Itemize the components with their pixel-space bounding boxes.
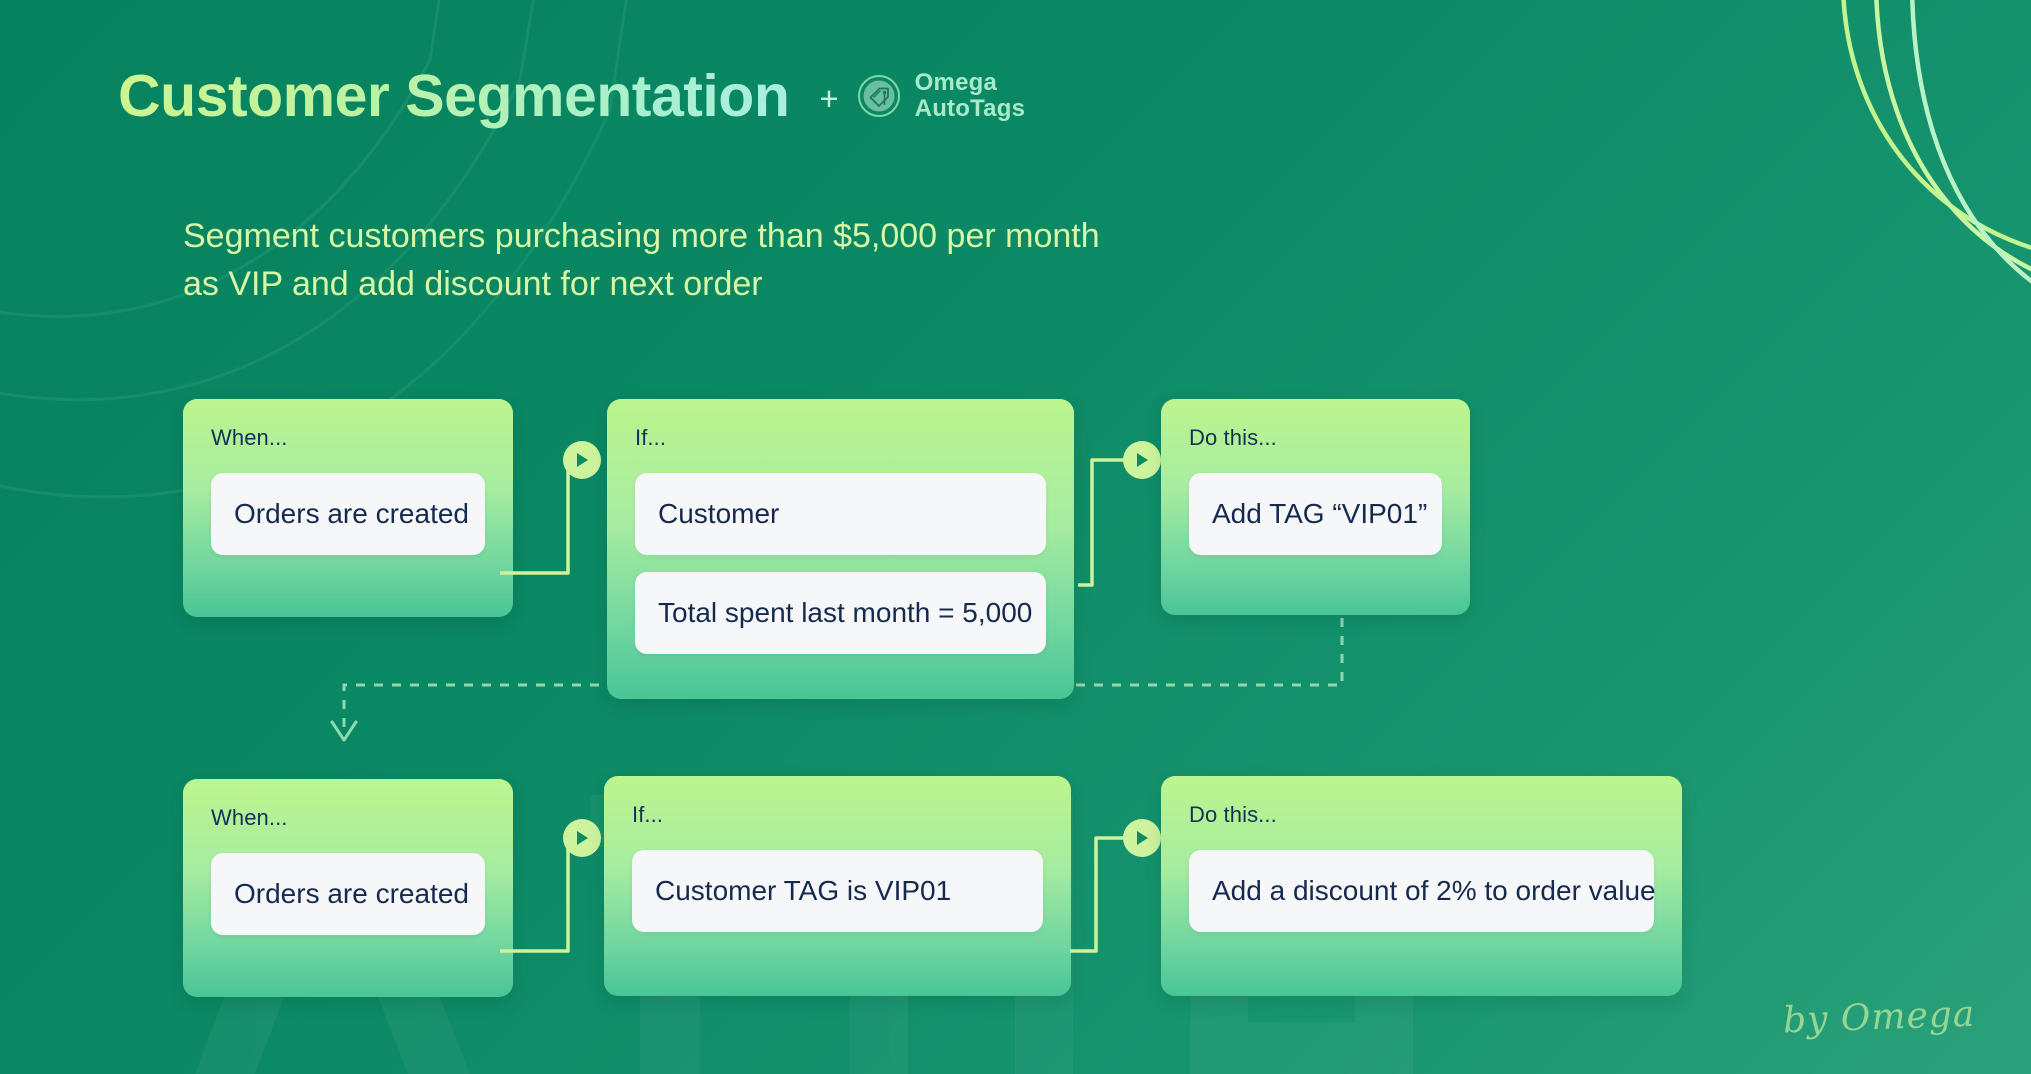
- slide-canvas: AUTO Customer Segmentation + Omega AutoT…: [0, 0, 2031, 1074]
- play-triangle-icon: [575, 452, 589, 468]
- card-label: When...: [211, 425, 485, 451]
- connector-play-button-3[interactable]: [563, 819, 601, 857]
- flow-diagram: When... Orders are created If... Custome…: [0, 0, 2031, 1074]
- signature-by-omega: by Omega: [1782, 994, 1976, 1042]
- card-label: When...: [211, 805, 485, 831]
- flow-card-when-2[interactable]: When... Orders are created: [183, 779, 513, 997]
- card-label: Do this...: [1189, 425, 1442, 451]
- connector-play-button-1[interactable]: [563, 441, 601, 479]
- connector-play-button-2[interactable]: [1123, 441, 1161, 479]
- play-triangle-icon: [575, 830, 589, 846]
- flow-card-do-2[interactable]: Do this... Add a discount of 2% to order…: [1161, 776, 1682, 996]
- flow-card-if-1[interactable]: If... Customer Total spent last month = …: [607, 399, 1074, 699]
- flow-card-when-1[interactable]: When... Orders are created: [183, 399, 513, 617]
- play-triangle-icon: [1135, 830, 1149, 846]
- loopback-arrowhead: [332, 722, 356, 740]
- flow-pill[interactable]: Total spent last month = 5,000: [635, 572, 1046, 654]
- flow-pill[interactable]: Add TAG “VIP01”: [1189, 473, 1442, 555]
- play-triangle-icon: [1135, 452, 1149, 468]
- card-label: If...: [632, 802, 1043, 828]
- flow-card-do-1[interactable]: Do this... Add TAG “VIP01”: [1161, 399, 1470, 615]
- flow-card-if-2[interactable]: If... Customer TAG is VIP01: [604, 776, 1071, 996]
- flow-pill[interactable]: Orders are created: [211, 473, 485, 555]
- flow-pill[interactable]: Customer TAG is VIP01: [632, 850, 1043, 932]
- card-label: Do this...: [1189, 802, 1654, 828]
- card-label: If...: [635, 425, 1046, 451]
- flow-pill[interactable]: Add a discount of 2% to order value: [1189, 850, 1654, 932]
- connector-play-button-4[interactable]: [1123, 819, 1161, 857]
- flow-pill[interactable]: Customer: [635, 473, 1046, 555]
- flow-pill[interactable]: Orders are created: [211, 853, 485, 935]
